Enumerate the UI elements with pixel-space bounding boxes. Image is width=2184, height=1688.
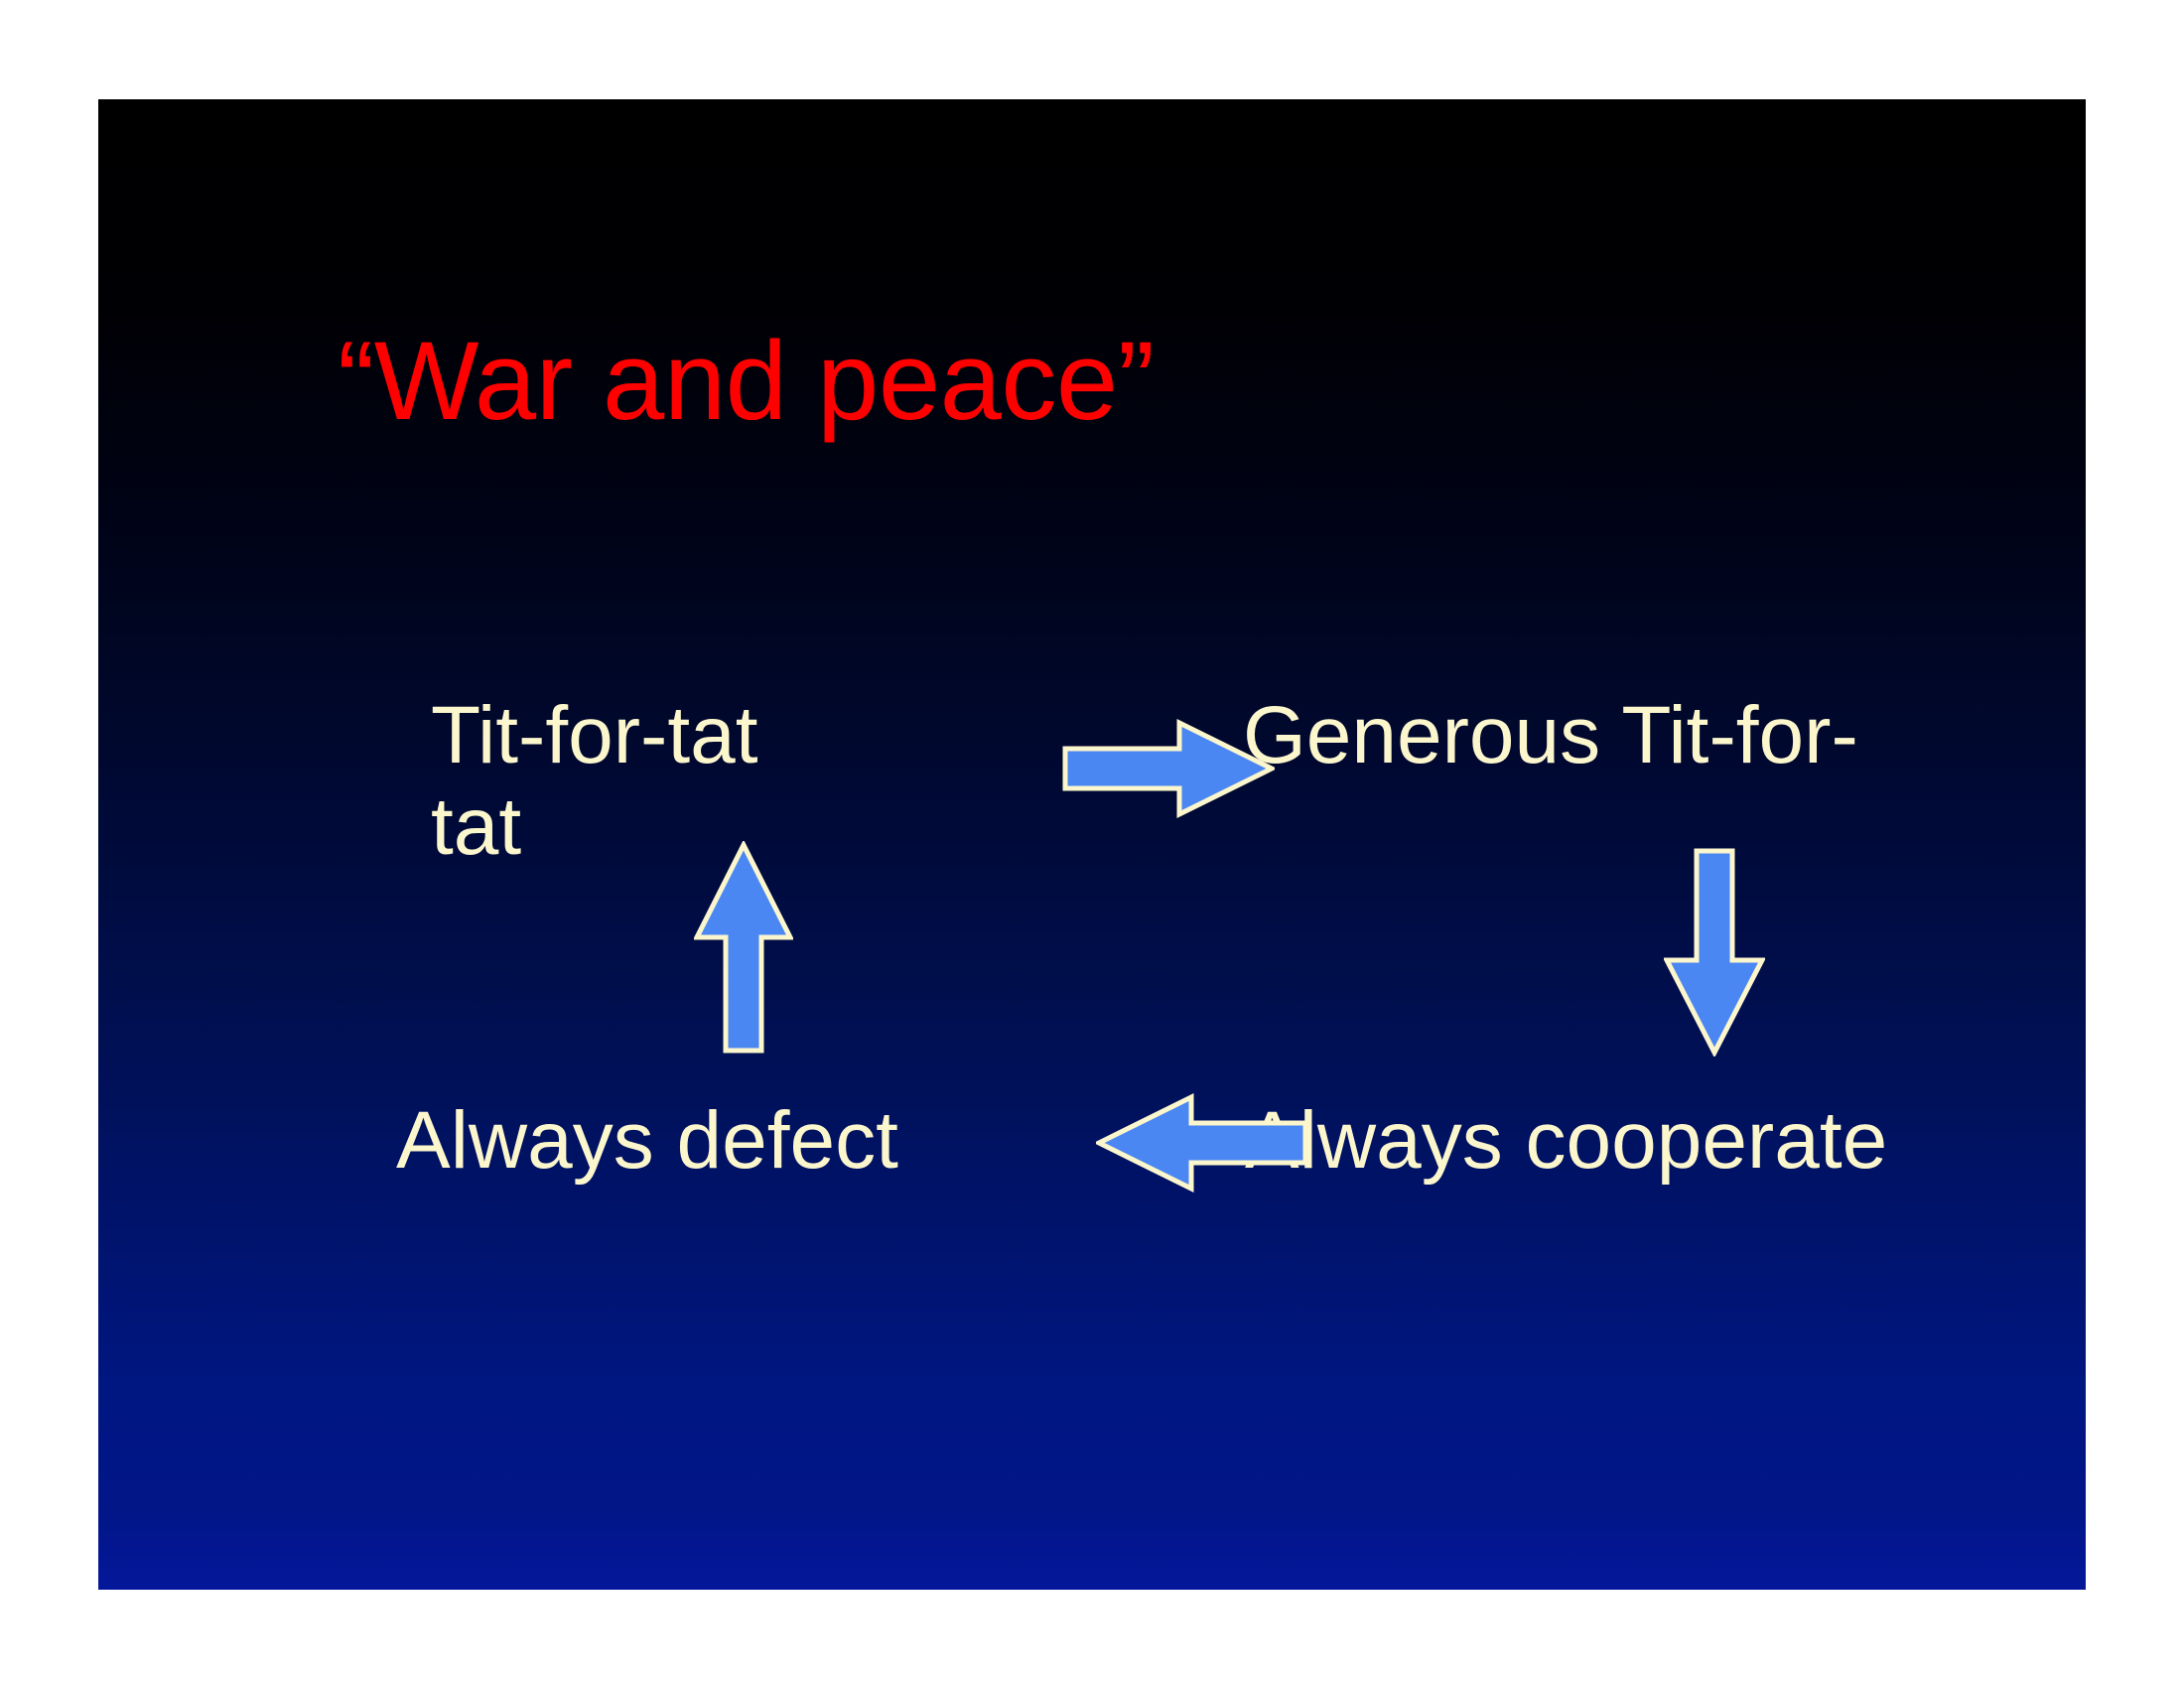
diagram-node-generous-tit-for-tat-label-wrapped: tat	[431, 781, 521, 872]
strategy-cycle-diagram: Tit-for-tat tat Generous Tit-for- Always…	[98, 99, 2086, 1590]
diagram-node-always-cooperate: Always cooperate	[1245, 1095, 1887, 1187]
page: “War and peace” Tit-for-tat tat Generous…	[0, 0, 2184, 1688]
arrow-right-icon	[1062, 719, 1275, 818]
diagram-node-always-defect: Always defect	[396, 1095, 898, 1187]
arrow-down-icon	[1664, 848, 1765, 1056]
arrow-left-icon	[1096, 1093, 1308, 1193]
diagram-node-generous-tit-for-tat: Generous Tit-for-	[1243, 690, 1858, 781]
diagram-node-tit-for-tat-label: Tit-for-tat	[431, 690, 758, 780]
arrow-up-icon	[694, 841, 793, 1055]
slide-canvas: “War and peace” Tit-for-tat tat Generous…	[98, 99, 2086, 1590]
